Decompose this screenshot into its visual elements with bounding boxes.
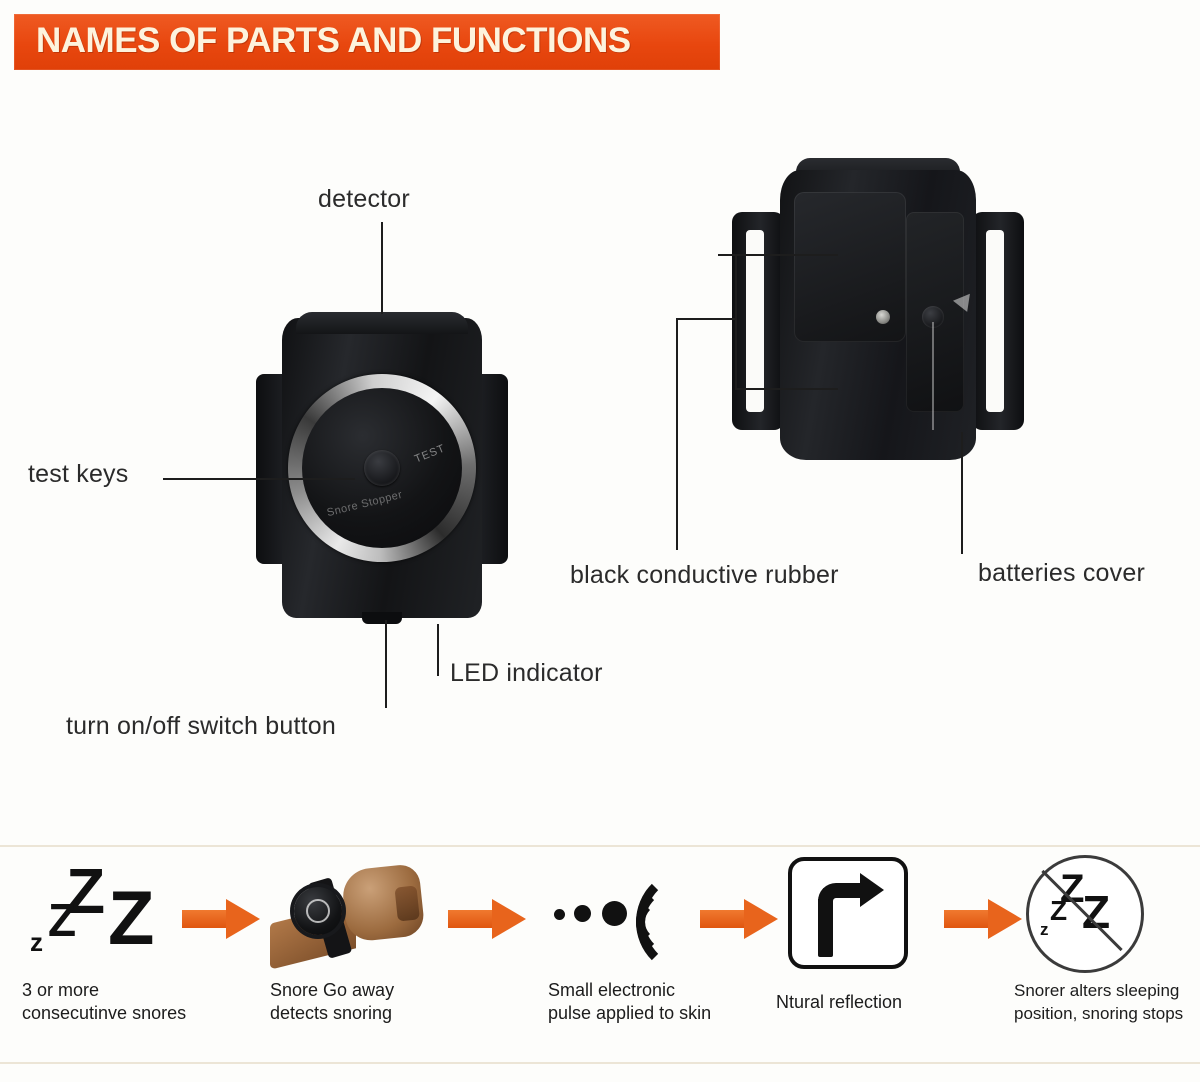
flow-caption-electronic-pulse: Small electronic pulse applied to skin	[548, 979, 711, 1025]
callout-label-test-keys: test keys	[28, 460, 128, 489]
flow-step-snoring-detected: Z Z z Z 3 or more consecutinve snores	[22, 847, 212, 1062]
wrist-device-hand-icon	[266, 853, 466, 971]
leader-line-test-keys	[163, 478, 355, 480]
flow-arrow-3-icon	[700, 899, 778, 939]
callout-label-detector: detector	[318, 185, 410, 214]
device-body: TEST Snore Stopper	[282, 318, 482, 618]
center-test-button	[364, 450, 400, 486]
strap-loop-right	[972, 212, 1024, 430]
flow-arrow-4-icon	[944, 899, 1022, 939]
page-title: NAMES OF PARTS AND FUNCTIONS	[36, 21, 631, 61]
caption-line-1: Snore Go away	[270, 979, 394, 1002]
callout-label-led-indicator: LED indicator	[450, 659, 603, 688]
flow-step-electronic-pulse: Small electronic pulse applied to skin	[548, 847, 748, 1062]
leader-line-detector	[381, 222, 383, 314]
leader-line-rubber-bottom	[735, 388, 838, 390]
pulse-dot-medium	[574, 905, 591, 922]
zzz-letter-3: z	[30, 929, 43, 955]
zzz-letter-2: Z	[48, 897, 76, 943]
flow-divider-bottom	[0, 1062, 1200, 1064]
caption-line-2: position, snoring stops	[1014, 1002, 1183, 1025]
face-test-label: TEST	[413, 442, 447, 465]
device-back-body	[780, 170, 976, 460]
pulse-dot-large	[602, 901, 627, 926]
zzz-letter-4: Z	[108, 881, 154, 957]
leader-line-rubber-stem	[676, 318, 736, 320]
flow-step-device-detects: Snore Go away detects snoring	[266, 847, 466, 1062]
leader-line-rubber-drop	[676, 318, 678, 550]
zzz-letter-3: z	[1040, 921, 1049, 938]
flow-step-snoring-stops: Z Z z Z Snorer alters sleeping position,…	[1018, 847, 1198, 1062]
flow-arrow-2-icon	[448, 899, 526, 939]
flow-caption-snoring-stops: Snorer alters sleeping position, snoring…	[1014, 979, 1183, 1025]
flow-caption-device-detects: Snore Go away detects snoring	[270, 979, 394, 1025]
pulse-dot-small	[554, 909, 565, 920]
flow-caption-natural-reflection: Ntural reflection	[776, 991, 902, 1014]
wrist-device-shape	[294, 887, 342, 935]
flow-caption-snoring-detected: 3 or more consecutinve snores	[22, 979, 186, 1025]
snore-stopper-back-view	[728, 170, 1028, 460]
leader-line-power-switch	[385, 620, 387, 708]
zzz-letter-2: Z	[1050, 897, 1067, 925]
flow-step-natural-reflection: Ntural reflection	[788, 847, 958, 1062]
callout-label-conductive-rubber: black conductive rubber	[570, 561, 839, 590]
leader-line-batteries-cover	[961, 432, 963, 554]
how-it-works-flow: Z Z z Z 3 or more consecutinve snores	[0, 847, 1200, 1062]
caption-line-2: consecutinve snores	[22, 1002, 186, 1025]
strap-loop-left	[732, 212, 784, 430]
leader-line-led-indicator	[437, 624, 439, 676]
chrome-bezel-ring: TEST Snore Stopper	[288, 374, 476, 562]
turn-arrow-head	[860, 873, 884, 907]
caption-line-1: Snorer alters sleeping	[1014, 979, 1183, 1002]
fist-shape	[340, 863, 425, 943]
caption-line-1: Small electronic	[548, 979, 711, 1002]
turn-arrow-icon	[788, 853, 958, 971]
caption-line-1: 3 or more	[22, 979, 186, 1002]
bottom-switch-notch	[362, 612, 402, 624]
flow-arrow-1-icon	[182, 899, 260, 939]
callout-label-power-switch: turn on/off switch button	[66, 712, 336, 741]
cover-screw	[876, 310, 890, 324]
caption-line-2: pulse applied to skin	[548, 1002, 711, 1025]
header-banner: NAMES OF PARTS AND FUNCTIONS	[14, 14, 720, 70]
no-snoring-icon: Z Z z Z	[1018, 853, 1198, 971]
snore-stopper-front-view: TEST Snore Stopper	[256, 318, 508, 618]
device-face: TEST Snore Stopper	[302, 388, 462, 548]
callout-label-batteries-cover: batteries cover	[978, 559, 1145, 588]
leader-line-rubber-bracket	[735, 254, 737, 388]
face-brand-label: Snore Stopper	[326, 489, 404, 519]
caption-line-1: Ntural reflection	[776, 991, 902, 1014]
product-instruction-sheet: NAMES OF PARTS AND FUNCTIONS TEST Snore …	[0, 0, 1200, 1082]
caption-line-2: detects snoring	[270, 1002, 394, 1025]
cover-seam	[932, 322, 934, 430]
